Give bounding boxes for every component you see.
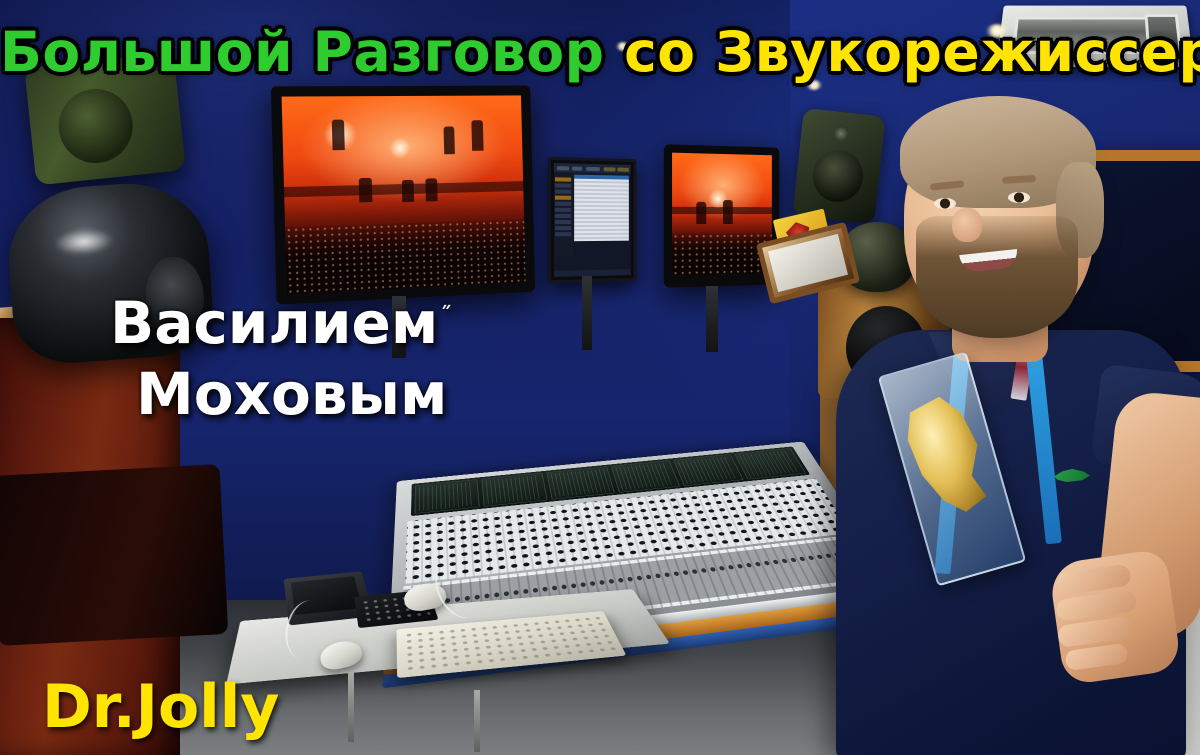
daw-statusbar	[554, 269, 631, 277]
beard	[916, 216, 1078, 338]
meter-panel	[734, 448, 806, 479]
main-wall-screen	[271, 86, 535, 305]
tray-support-leg	[348, 672, 354, 742]
screen-surface	[282, 95, 526, 293]
meter-panel	[673, 454, 744, 486]
screen-surface	[672, 153, 772, 276]
daw-software-ui	[554, 163, 631, 277]
finger	[1064, 643, 1128, 671]
crowd	[672, 233, 772, 275]
finger	[1057, 616, 1133, 648]
left-subwoofer-cabinet	[0, 464, 228, 646]
nose	[952, 208, 982, 242]
meter-panel	[610, 460, 679, 493]
speaker-cone	[55, 85, 136, 166]
guest-name-line2: Моховым	[136, 363, 530, 426]
monitor-stand	[706, 286, 718, 352]
speaker-highlight	[53, 227, 115, 257]
tray-support-leg	[474, 690, 480, 752]
monitor-stand	[582, 276, 592, 350]
meter-panel	[415, 479, 480, 514]
concert-footage	[282, 95, 526, 293]
meter-panel	[482, 473, 548, 507]
concert-footage	[672, 153, 772, 276]
eye-right	[1008, 192, 1030, 203]
eye-left	[934, 198, 956, 209]
center-daw-monitor	[548, 157, 637, 283]
title-green-part: Большой Разговор	[0, 20, 605, 84]
meter-panel	[547, 466, 615, 499]
crowd	[285, 219, 526, 294]
youtube-thumbnail: Большой Разговор со Звукорежиссером Васи…	[0, 0, 1200, 755]
daw-channel-grid	[574, 179, 629, 242]
channel-brand-logo: Dr.Jolly	[42, 672, 279, 742]
guest-name-mark: ˝	[440, 305, 451, 329]
thumbnail-title: Большой Разговор со Звукорежиссером	[0, 20, 1200, 84]
title-yellow-part: со Звукорежиссером	[624, 20, 1200, 84]
guest-name-overlay: Василием˝ Моховым	[110, 292, 530, 425]
hand-holding-award	[1048, 548, 1182, 685]
guest-name-line1: Василием	[110, 289, 438, 357]
guest-photo	[820, 70, 1200, 755]
